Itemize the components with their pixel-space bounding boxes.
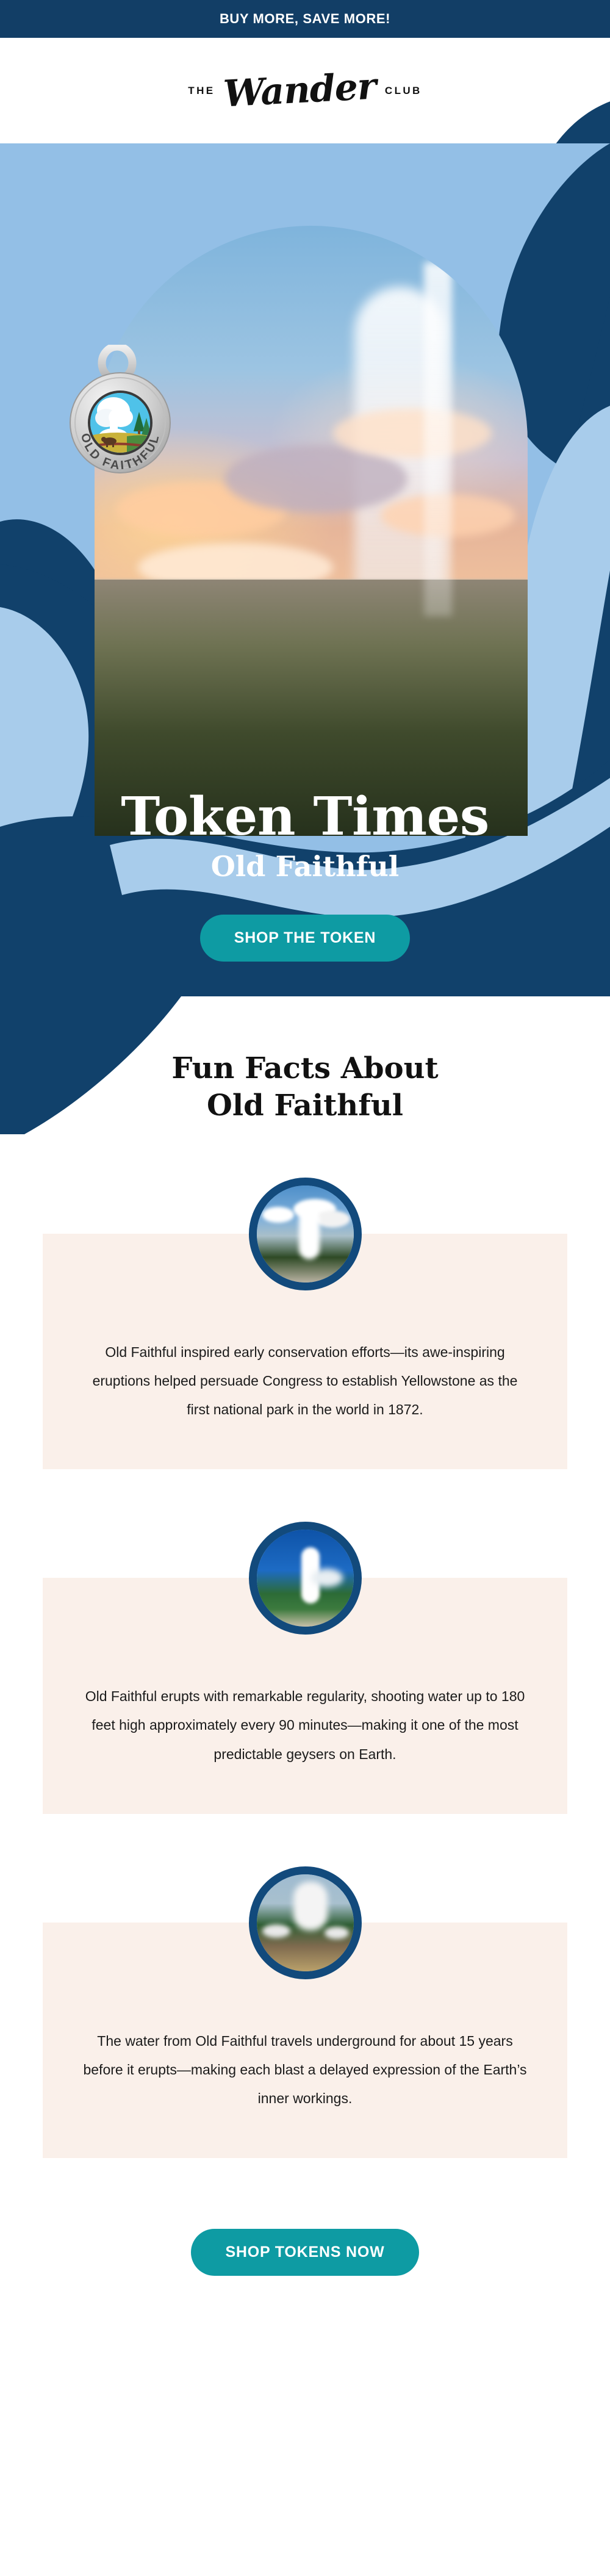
brand-logo[interactable]: THE Wander CLUB	[188, 73, 422, 108]
fact-text-3: The water from Old Faithful travels unde…	[0, 1979, 610, 2158]
hero-section: OLD FAITHFUL Token Times Old Faithful SH…	[0, 143, 610, 996]
fact-text-1: Old Faithful inspired early conservation…	[0, 1290, 610, 1469]
announcement-bar: BUY MORE, SAVE MORE!	[0, 0, 610, 38]
fun-facts-heading-line1: Fun Facts About	[0, 1050, 610, 1087]
fact-block: Old Faithful erupts with remarkable regu…	[0, 1522, 610, 1813]
footer-cta-section: SHOP TOKENS NOW	[0, 2158, 610, 2350]
logo-band: THE Wander CLUB	[0, 38, 610, 143]
announcement-text: BUY MORE, SAVE MORE!	[220, 11, 390, 27]
hero-photo	[95, 226, 528, 836]
fun-facts-heading: Fun Facts About Old Faithful	[0, 996, 610, 1125]
logo-club-text: CLUB	[385, 85, 422, 97]
hero-subtitle: Old Faithful	[0, 850, 610, 883]
shop-the-token-button[interactable]: SHOP THE TOKEN	[200, 915, 411, 962]
shop-tokens-now-button[interactable]: SHOP TOKENS NOW	[191, 2229, 418, 2276]
fact-block: Old Faithful inspired early conservation…	[0, 1178, 610, 1469]
fact-text-2: Old Faithful erupts with remarkable regu…	[0, 1635, 610, 1813]
hero-title: Token Times	[0, 790, 610, 844]
logo-band-wave-decoration	[451, 82, 610, 143]
logo-the-text: THE	[188, 85, 215, 97]
token-medallion: OLD FAITHFUL	[54, 345, 187, 478]
hero-photo-secondary-jet	[424, 262, 452, 616]
fact-image-1	[249, 1178, 362, 1290]
fact-image-2	[249, 1522, 362, 1635]
fact-block: The water from Old Faithful travels unde…	[0, 1866, 610, 2158]
hero-copy: Token Times Old Faithful SHOP THE TOKEN	[0, 790, 610, 962]
logo-wander-script: Wander	[223, 69, 377, 112]
fun-facts-section: Fun Facts About Old Faithful Old Faithfu…	[0, 996, 610, 2158]
fact-image-3	[249, 1866, 362, 1979]
fun-facts-heading-line2: Old Faithful	[0, 1087, 610, 1124]
